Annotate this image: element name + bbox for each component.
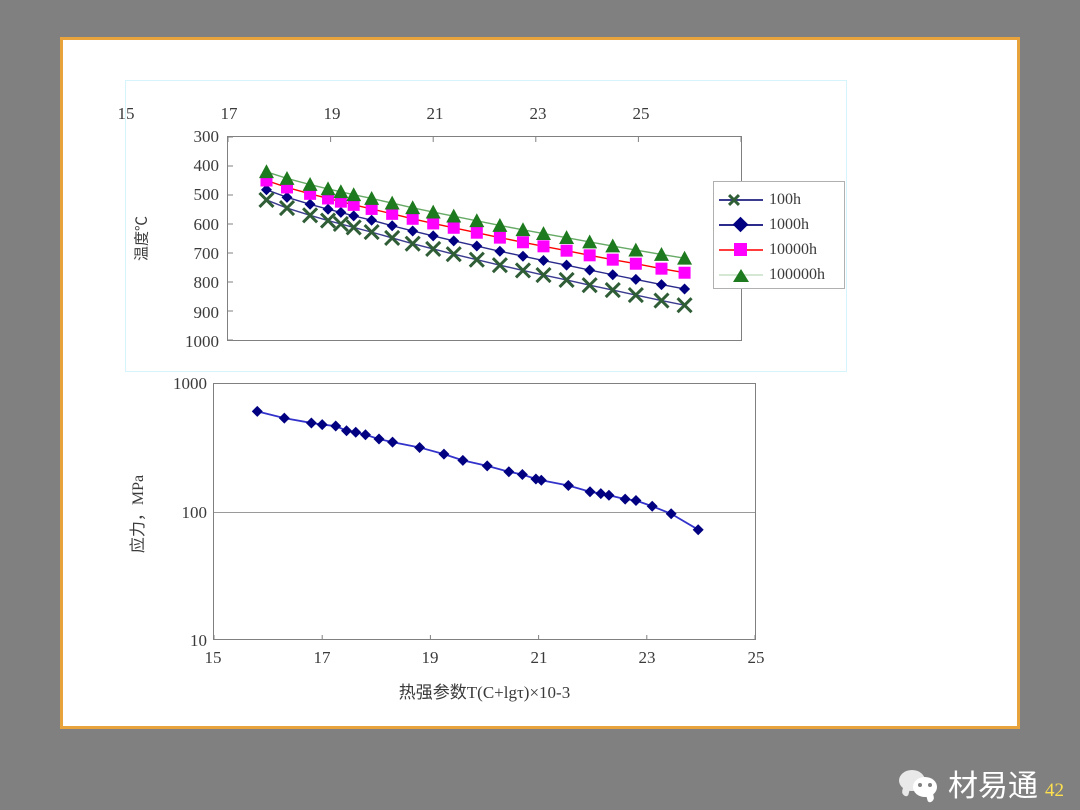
diamond-marker-icon — [482, 460, 493, 471]
diamond-marker-icon — [517, 469, 528, 480]
diamond-marker-icon — [306, 417, 317, 428]
bottom-chart-xtick: 23 — [627, 648, 667, 668]
bottom-chart-xtick: 21 — [519, 648, 559, 668]
page-number: 42 — [1045, 781, 1064, 802]
diamond-marker-icon — [341, 425, 352, 436]
diamond-marker-icon — [630, 495, 641, 506]
stress-vs-parameter-chart: 1000 100 10 应力，MPa 15 17 19 21 23 25 热强参… — [63, 40, 1023, 732]
diamond-marker-icon — [317, 419, 328, 430]
bottom-chart-xtick: 19 — [410, 648, 450, 668]
diamond-marker-icon — [374, 434, 385, 445]
diamond-marker-icon — [603, 490, 614, 501]
bottom-chart-x-axis-title: 热强参数T(C+lgτ)×10-3 — [213, 678, 756, 703]
slide-page: 15 17 19 21 23 25 300 400 500 600 700 80… — [60, 37, 1020, 729]
bottom-chart-ytick: 100 — [151, 503, 207, 523]
diamond-marker-icon — [666, 508, 677, 519]
bottom-chart-ytick: 1000 — [151, 374, 207, 394]
series-line — [257, 411, 698, 529]
diamond-marker-icon — [620, 494, 631, 505]
diamond-marker-icon — [387, 437, 398, 448]
bottom-chart-plot-area — [213, 383, 756, 640]
bottom-chart-xtick: 25 — [736, 648, 776, 668]
diamond-marker-icon — [584, 486, 595, 497]
diamond-marker-icon — [595, 488, 606, 499]
bottom-chart-xtick: 15 — [193, 648, 233, 668]
diamond-marker-icon — [360, 429, 371, 440]
watermark-label: 材易通 — [948, 772, 1038, 802]
diamond-marker-icon — [457, 455, 468, 466]
diamond-marker-icon — [693, 524, 704, 535]
watermark: 材易通 42 — [899, 768, 1064, 802]
bottom-chart-y-axis-title: 应力，MPa — [124, 469, 148, 559]
diamond-marker-icon — [350, 427, 361, 438]
diamond-marker-icon — [503, 466, 514, 477]
wechat-icon — [899, 768, 941, 802]
bottom-chart-xtick: 17 — [302, 648, 342, 668]
diamond-marker-icon — [252, 406, 263, 417]
bottom-chart-data-layer — [214, 384, 755, 639]
diamond-marker-icon — [563, 480, 574, 491]
diamond-marker-icon — [647, 501, 658, 512]
diamond-marker-icon — [414, 442, 425, 453]
diamond-marker-icon — [330, 421, 341, 432]
diamond-marker-icon — [279, 413, 290, 424]
diamond-marker-icon — [438, 449, 449, 460]
